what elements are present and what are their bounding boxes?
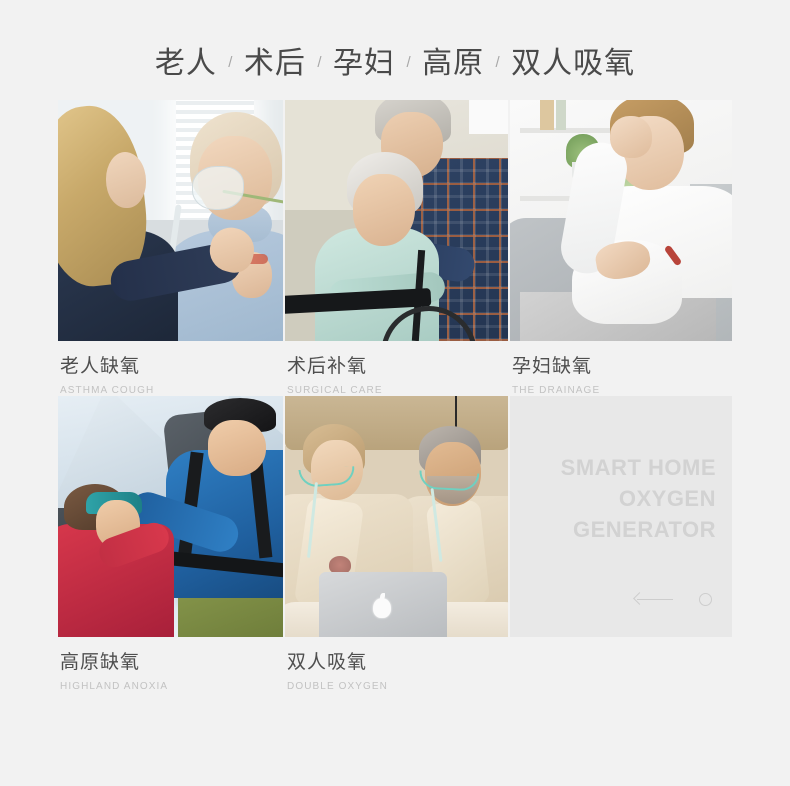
title-separator: / <box>489 54 507 71</box>
scenario-card-postsurgery[interactable]: 术后补氧 SURGICAL CARE <box>283 100 508 396</box>
title-segment-4: 高原 <box>422 47 484 80</box>
scenario-title-en: HIGHLAND ANOXIA <box>60 681 283 692</box>
scenario-title-en: DOUBLE OXYGEN <box>287 681 508 692</box>
scenario-title-en: THE DRAINAGE <box>512 385 732 396</box>
apple-logo-icon <box>373 598 391 618</box>
scenario-title-zh: 双人吸氧 <box>287 651 508 675</box>
scenario-title-en: ASTHMA COUGH <box>60 385 283 396</box>
scenario-card-double[interactable]: 双人吸氧 DOUBLE OXYGEN <box>283 396 508 692</box>
circle-outline-icon[interactable] <box>699 593 712 606</box>
title-separator: / <box>221 54 239 71</box>
scenario-caption: 老人缺氧 ASTHMA COUGH <box>58 341 283 396</box>
arrow-left-icon[interactable] <box>635 593 673 607</box>
product-feature-page: 老人 / 术后 / 孕妇 / 高原 / 双人吸氧 <box>0 0 790 786</box>
scenario-title-zh: 老人缺氧 <box>60 355 283 379</box>
scenario-card-pregnancy[interactable]: 孕妇缺氧 THE DRAINAGE <box>508 100 732 396</box>
scenario-caption: 高原缺氧 HIGHLAND ANOXIA <box>58 637 283 692</box>
scenario-image-highland <box>58 396 283 637</box>
scenario-card-elderly[interactable]: 老人缺氧 ASTHMA COUGH <box>58 100 283 396</box>
scenario-image-pregnancy <box>510 100 732 341</box>
scenario-image-double <box>285 396 508 637</box>
title-segment-5: 双人吸氧 <box>511 47 635 80</box>
title-separator: / <box>310 54 328 71</box>
promo-line-3: GENERATOR <box>526 514 716 545</box>
scenario-caption: 术后补氧 SURGICAL CARE <box>283 341 508 396</box>
scenario-card-highland[interactable]: 高原缺氧 HIGHLAND ANOXIA <box>58 396 283 692</box>
scenario-grid: 老人缺氧 ASTHMA COUGH <box>58 100 732 692</box>
scenario-image-elderly <box>58 100 283 341</box>
scenario-caption: 双人吸氧 DOUBLE OXYGEN <box>283 637 508 692</box>
scenario-title-en: SURGICAL CARE <box>287 385 508 396</box>
promo-panel-card: SMART HOME OXYGEN GENERATOR <box>508 396 732 692</box>
scenario-caption: 孕妇缺氧 THE DRAINAGE <box>508 341 732 396</box>
scenario-title-zh: 孕妇缺氧 <box>512 355 732 379</box>
scenario-image-postsurgery <box>285 100 508 341</box>
page-title: 老人 / 术后 / 孕妇 / 高原 / 双人吸氧 <box>0 38 790 82</box>
title-segment-2: 术后 <box>244 47 306 80</box>
title-segment-3: 孕妇 <box>333 47 395 80</box>
scenario-title-zh: 术后补氧 <box>287 355 508 379</box>
scenario-title-zh: 高原缺氧 <box>60 651 283 675</box>
promo-navigation <box>635 593 712 607</box>
promo-line-1: SMART HOME <box>526 452 716 483</box>
title-segment-1: 老人 <box>155 47 217 80</box>
promo-panel: SMART HOME OXYGEN GENERATOR <box>510 396 732 637</box>
title-separator: / <box>399 54 417 71</box>
promo-text: SMART HOME OXYGEN GENERATOR <box>526 452 716 546</box>
promo-line-2: OXYGEN <box>526 483 716 514</box>
